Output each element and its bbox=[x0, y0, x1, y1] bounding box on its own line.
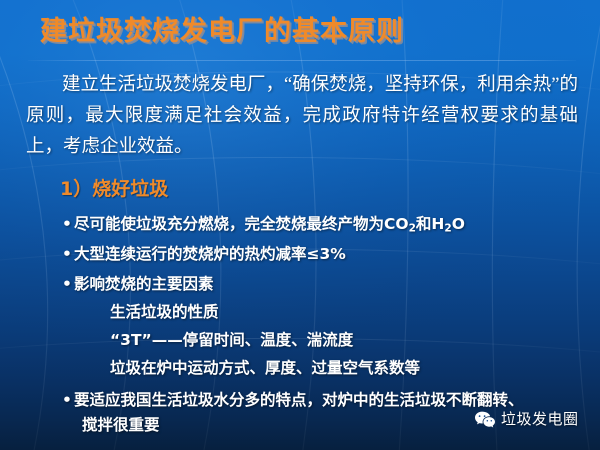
page-title: 建垃圾焚烧发电厂的基本原则 bbox=[40, 14, 404, 50]
presentation-slide: 建垃圾焚烧发电厂的基本原则 建立生活垃圾焚烧发电厂，“确保焚烧，坚持环保，利用余… bbox=[0, 0, 600, 450]
sub-item: 生活垃圾的性质 bbox=[110, 300, 219, 324]
sub-item: “3T”——停留时间、温度、湍流度 bbox=[110, 328, 353, 352]
bullet-item: •要适应我国生活垃圾水分多的特点，对炉中的生活垃圾不断翻转、 bbox=[62, 388, 524, 412]
slide-title-zone: 建垃圾焚烧发电厂的基本原则 bbox=[0, 14, 600, 60]
title-divider bbox=[28, 60, 576, 61]
bullet-text: 要适应我国生活垃圾水分多的特点，对炉中的生活垃圾不断翻转、 bbox=[74, 391, 524, 409]
bullet-marker: • bbox=[62, 388, 74, 412]
bullet-item: •尽可能使垃圾充分燃烧，完全焚烧最终产物为CO2和H2O bbox=[62, 212, 465, 240]
bullet-item: •大型连续运行的焚烧炉的热灼减率≤3% bbox=[62, 242, 346, 266]
bullet-text-part: 和H bbox=[416, 215, 444, 233]
bullet-marker: • bbox=[62, 212, 74, 236]
bullet-text: 影响焚烧的主要因素 bbox=[74, 275, 214, 293]
bullet-text-part: O bbox=[452, 215, 465, 233]
wechat-icon bbox=[474, 410, 496, 428]
bullet-text-part: 尽可能使垃圾充分燃烧，完全焚烧最终产物为CO bbox=[74, 215, 409, 233]
subscript-2: 2 bbox=[409, 222, 416, 234]
sub-item: 垃圾在炉中运动方式、厚度、过量空气系数等 bbox=[110, 356, 420, 380]
bullet-text: 大型连续运行的焚烧炉的热灼减率≤3% bbox=[74, 245, 346, 263]
section-heading: 1）烧好垃圾 bbox=[60, 176, 168, 202]
bullet-continuation-line: 搅拌很重要 bbox=[82, 413, 160, 437]
bullet-item: •影响焚烧的主要因素 bbox=[62, 272, 214, 296]
bullet-marker: • bbox=[62, 242, 74, 266]
subscript-2: 2 bbox=[444, 222, 451, 234]
bullet-marker: • bbox=[62, 272, 74, 296]
watermark-label: 垃圾发电圈 bbox=[501, 409, 579, 429]
intro-paragraph: 建立生活垃圾焚烧发电厂，“确保焚烧，坚持环保，利用余热”的原则，最大限度满足社会… bbox=[26, 70, 578, 163]
watermark: 垃圾发电圈 bbox=[474, 409, 579, 429]
